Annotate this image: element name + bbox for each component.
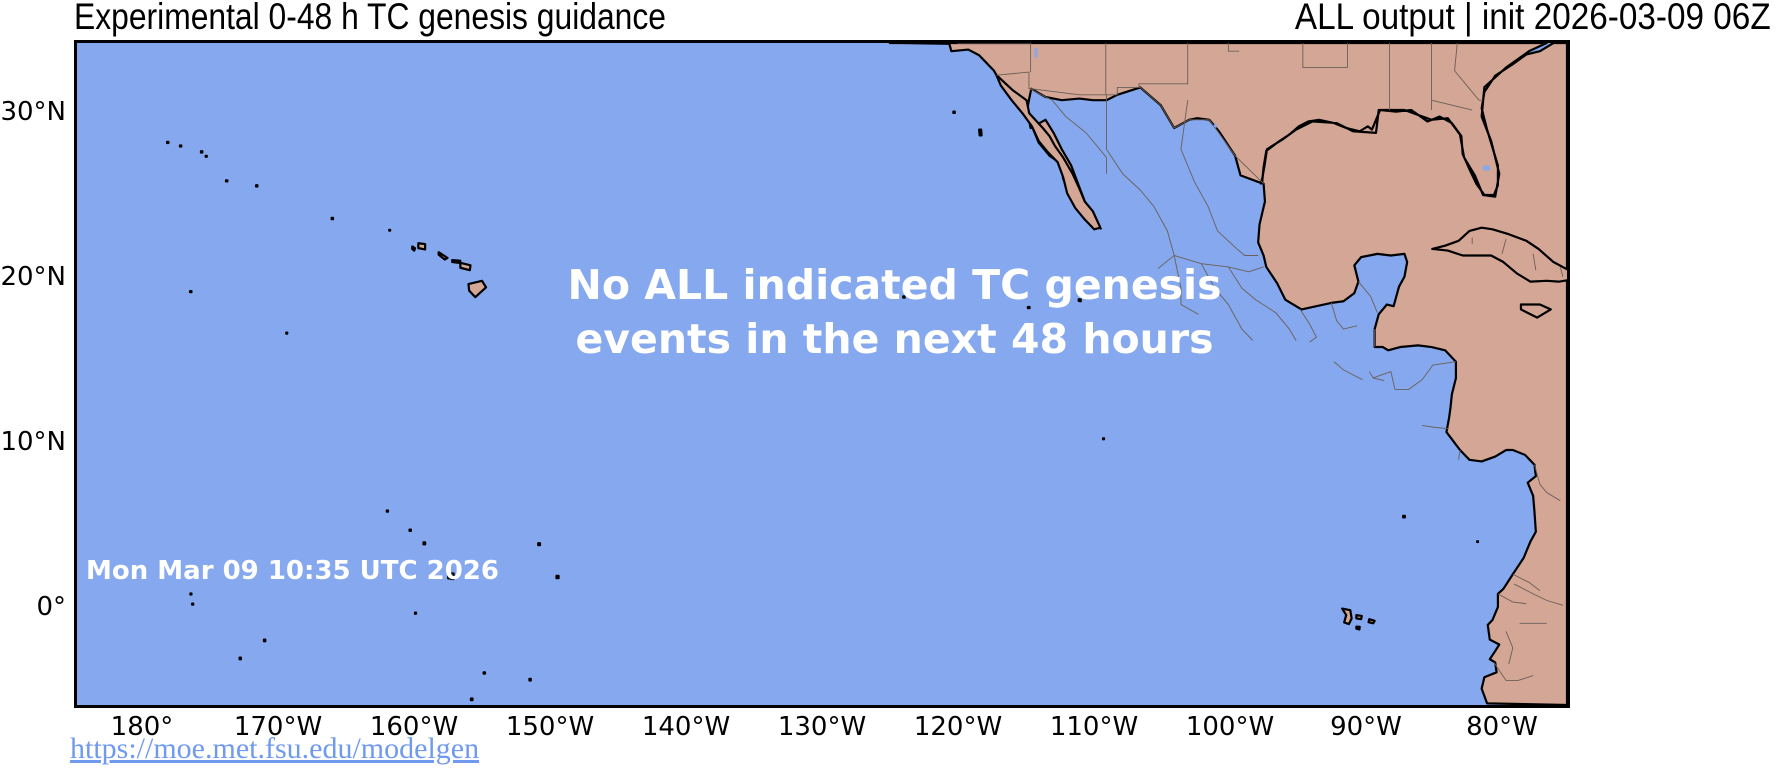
landmass-lisianski: [226, 180, 227, 181]
landmass-starbuck: [471, 698, 473, 700]
landmass-floreana: [1356, 627, 1359, 630]
landmass-midway: [180, 145, 181, 146]
latitude-tick-label: 0°: [36, 592, 66, 622]
longitude-tick-label: 110°W: [1050, 712, 1138, 742]
inland-water: [1035, 48, 1038, 58]
landmass-speck4: [206, 156, 207, 157]
landmass-niihau: [412, 246, 415, 250]
latitude-tick-label: 20°N: [0, 262, 66, 292]
landmass-speck2: [557, 576, 559, 578]
landmass-washington: [410, 530, 411, 531]
map-svg: [77, 43, 1567, 705]
landmass-santacruz: [1356, 615, 1361, 619]
landmass-johnston: [286, 333, 287, 334]
landmass-socorro: [1079, 299, 1081, 301]
page-subtitle-init: ALL output | init 2026-03-09 06Z: [1295, 0, 1771, 38]
longitude-tick-label: 100°W: [1186, 712, 1274, 742]
landmass-malpelo: [1477, 541, 1478, 542]
landmass-kure: [167, 142, 168, 143]
landmass-maui: [460, 263, 470, 270]
landmass-baker: [192, 604, 193, 605]
landmass-frenchfrigate: [332, 218, 333, 219]
longitude-tick-label: 130°W: [778, 712, 866, 742]
landmass-molokai: [452, 260, 460, 263]
landmass-palmyra: [387, 510, 388, 511]
longitude-tick-label: 140°W: [642, 712, 730, 742]
landmass-nihoa: [389, 230, 390, 231]
landmass-speck3: [529, 679, 530, 681]
landmass-howland: [190, 594, 191, 595]
landmass-wake: [190, 291, 191, 292]
landmass-fanning: [423, 542, 425, 544]
latitude-tick-label: 10°N: [0, 427, 66, 457]
landmass-malden: [484, 672, 485, 673]
tc-genesis-guidance-page: Experimental 0-48 h TC genesis guidance …: [0, 0, 1789, 768]
landmass-speck5: [240, 658, 241, 660]
landmass-pearl: [201, 151, 202, 152]
source-url-link[interactable]: https://moe.met.fsu.edu/modelgen: [70, 732, 479, 766]
landmass-cocos: [1403, 516, 1405, 517]
longitude-tick-label: 90°W: [1330, 712, 1402, 742]
longitude-tick-label: 80°W: [1466, 712, 1538, 742]
landmass-jarvis: [415, 613, 416, 614]
page-title: Experimental 0-48 h TC genesis guidance: [74, 0, 666, 38]
landmass-speck1: [538, 543, 540, 545]
landmass-speck6: [264, 640, 265, 642]
longitude-tick-label: 120°W: [914, 712, 1002, 742]
landmass-speck8: [953, 112, 954, 113]
landmass-sancristobal: [1369, 619, 1375, 623]
landmass-clipperton: [1103, 438, 1104, 439]
landmass-revilla2: [1028, 307, 1030, 308]
longitude-tick-label: 150°W: [506, 712, 594, 742]
map-timestamp: Mon Mar 09 10:35 UTC 2026: [86, 556, 499, 586]
inland-water: [1483, 166, 1490, 171]
map-canvas: [74, 40, 1570, 708]
latitude-tick-label: 30°N: [0, 97, 66, 127]
landmass-guadalupe: [979, 130, 981, 136]
landmass-speck7: [903, 296, 904, 297]
landmass-laysan: [256, 185, 257, 186]
landmass-kauai: [418, 243, 425, 249]
